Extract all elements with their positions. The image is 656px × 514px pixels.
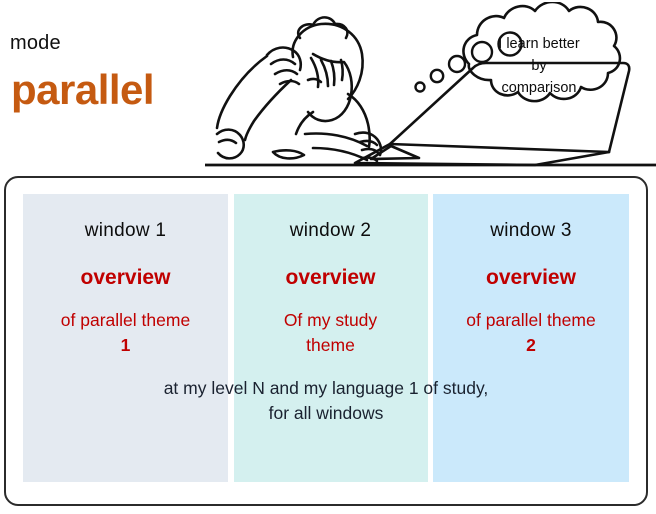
window-3-title: window 3 <box>433 220 629 242</box>
window-panel-3[interactable]: window 3 overview of parallel theme 2 <box>433 194 629 482</box>
window-3-theme-number: 2 <box>433 333 629 358</box>
window-2-heading: overview <box>234 266 428 290</box>
window-2-title: window 2 <box>234 220 428 242</box>
thought-bubble-text: I learn better by comparison <box>464 33 614 99</box>
header-area: mode parallel <box>0 0 656 176</box>
window-panel-2[interactable]: window 2 overview Of my study theme <box>234 194 428 482</box>
windows-row: window 1 overview of parallel theme 1 wi… <box>23 194 629 482</box>
window-2-subtitle: Of my study theme <box>234 308 428 358</box>
thought-bubble-line-2: by <box>464 55 614 77</box>
window-1-heading: overview <box>23 266 228 290</box>
window-2-subtitle-text: Of my study <box>284 310 377 330</box>
parallel-mode-panel: window 1 overview of parallel theme 1 wi… <box>4 176 648 506</box>
mode-value: parallel <box>11 66 154 114</box>
mode-label: mode <box>10 32 61 55</box>
thought-bubble-line-3: comparison <box>464 77 614 99</box>
window-panel-1[interactable]: window 1 overview of parallel theme 1 <box>23 194 228 482</box>
window-1-subtitle: of parallel theme 1 <box>23 308 228 358</box>
window-3-subtitle-text: of parallel theme <box>466 310 595 330</box>
window-1-title: window 1 <box>23 220 228 242</box>
thought-bubble-line-1: I learn better <box>464 33 614 55</box>
window-2-theme-word: theme <box>234 333 428 358</box>
window-3-heading: overview <box>433 266 629 290</box>
window-1-subtitle-text: of parallel theme <box>61 310 190 330</box>
window-3-subtitle: of parallel theme 2 <box>433 308 629 358</box>
window-1-theme-number: 1 <box>23 333 228 358</box>
